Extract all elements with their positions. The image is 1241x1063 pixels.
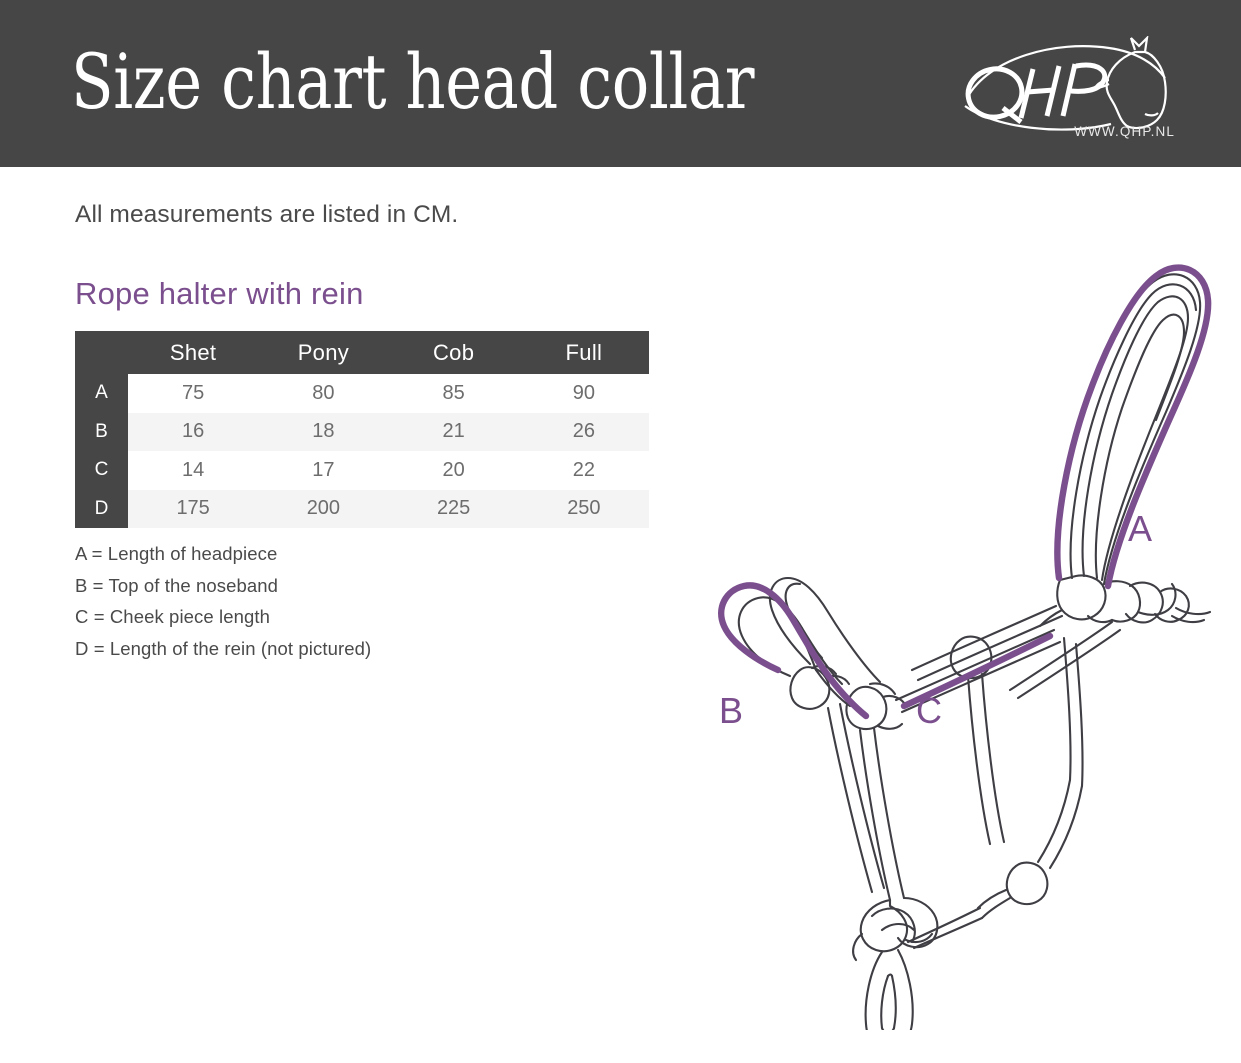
column-header-cob: Cob bbox=[389, 331, 519, 374]
column-header-full: Full bbox=[519, 331, 649, 374]
cell-b-cob: 21 bbox=[389, 413, 519, 452]
column-header-pony: Pony bbox=[258, 331, 388, 374]
intro-text: All measurements are listed in CM. bbox=[75, 201, 458, 229]
cell-a-shet: 75 bbox=[128, 374, 258, 413]
cell-c-shet: 14 bbox=[128, 451, 258, 490]
page-title: Size chart head collar bbox=[71, 34, 754, 130]
brand-url: WWW.QHP.NL bbox=[1074, 124, 1175, 139]
rope-outline-group bbox=[723, 274, 1210, 1030]
cell-b-pony: 18 bbox=[258, 413, 388, 452]
legend-item-c: C = Cheek piece length bbox=[75, 601, 595, 633]
qhp-logo: WWW.QHP.NL bbox=[959, 36, 1179, 141]
cell-d-pony: 200 bbox=[258, 490, 388, 529]
table-head: Shet Pony Cob Full bbox=[75, 331, 649, 374]
cell-c-cob: 20 bbox=[389, 451, 519, 490]
row-label-a: A bbox=[75, 374, 128, 413]
cell-d-shet: 175 bbox=[128, 490, 258, 529]
cell-a-cob: 85 bbox=[389, 374, 519, 413]
section-heading: Rope halter with rein bbox=[75, 276, 364, 312]
measurement-label-a: A bbox=[1128, 511, 1152, 547]
rope-halter-svg bbox=[660, 240, 1220, 1030]
legend-item-b: B = Top of the noseband bbox=[75, 570, 595, 602]
cell-d-cob: 225 bbox=[389, 490, 519, 529]
measurement-label-c: C bbox=[916, 693, 942, 729]
table-header-row: Shet Pony Cob Full bbox=[75, 331, 649, 374]
cell-a-pony: 80 bbox=[258, 374, 388, 413]
table-corner-cell bbox=[75, 331, 128, 374]
table-body: A 75 80 85 90 B 16 18 21 26 C 14 17 20 2… bbox=[75, 374, 649, 528]
column-header-shet: Shet bbox=[128, 331, 258, 374]
cell-b-shet: 16 bbox=[128, 413, 258, 452]
table-row: C 14 17 20 22 bbox=[75, 451, 649, 490]
table-row: A 75 80 85 90 bbox=[75, 374, 649, 413]
cell-c-pony: 17 bbox=[258, 451, 388, 490]
legend-item-d: D = Length of the rein (not pictured) bbox=[75, 633, 595, 665]
table-row: D 175 200 225 250 bbox=[75, 490, 649, 529]
header-bar: Size chart head collar bbox=[0, 0, 1241, 167]
row-label-b: B bbox=[75, 413, 128, 452]
size-table: Shet Pony Cob Full A 75 80 85 90 B 16 18… bbox=[75, 331, 649, 528]
cell-a-full: 90 bbox=[519, 374, 649, 413]
legend-item-a: A = Length of headpiece bbox=[75, 538, 595, 570]
cell-d-full: 250 bbox=[519, 490, 649, 529]
measurement-label-b: B bbox=[719, 693, 743, 729]
row-label-c: C bbox=[75, 451, 128, 490]
measurement-legend: A = Length of headpiece B = Top of the n… bbox=[75, 538, 595, 664]
cell-c-full: 22 bbox=[519, 451, 649, 490]
rope-halter-illustration bbox=[660, 240, 1220, 1030]
row-label-d: D bbox=[75, 490, 128, 529]
cell-b-full: 26 bbox=[519, 413, 649, 452]
table-row: B 16 18 21 26 bbox=[75, 413, 649, 452]
